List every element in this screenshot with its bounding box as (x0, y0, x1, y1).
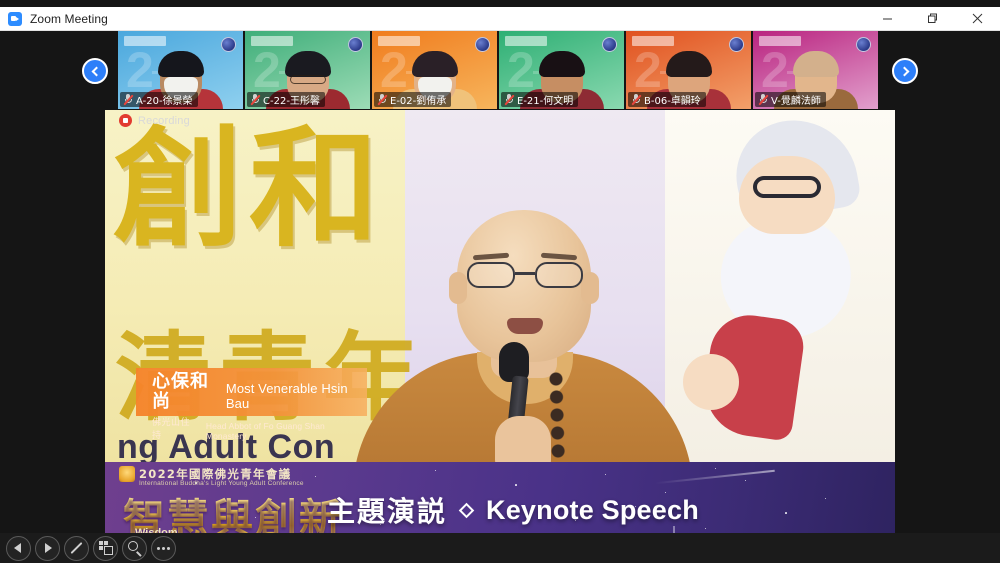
minimize-button[interactable] (865, 7, 910, 31)
more-dots-icon (157, 547, 170, 550)
participant-name: E-21-何文明 (517, 92, 573, 107)
conference-logo-icon (124, 36, 166, 46)
recording-indicator[interactable]: Recording (113, 112, 196, 129)
magnifier-icon (128, 541, 142, 555)
participant-name: E-02-劉侑承 (390, 92, 446, 107)
participant-name: V-覺麟法師 (771, 92, 821, 107)
participant-thumbnail[interactable]: 2E-02-劉侑承 (372, 31, 497, 109)
speaker-mouth (507, 318, 543, 334)
close-button[interactable] (955, 7, 1000, 31)
star (825, 498, 826, 499)
participant-thumbnail[interactable]: 2V-覺麟法師 (753, 31, 878, 109)
record-icon (119, 114, 132, 127)
participant-namebar: B-06-卓韻玲 (628, 92, 706, 107)
annotate-button[interactable] (64, 536, 89, 561)
window-titlebar: Zoom Meeting (0, 7, 1000, 31)
triangle-right-icon (45, 543, 52, 553)
session-title-en: Keynote Speech (486, 495, 699, 526)
more-button[interactable] (151, 536, 176, 561)
star (315, 476, 316, 477)
conference-logo-icon (251, 36, 293, 46)
participant-name: C-22-王彤馨 (263, 92, 320, 107)
layout-grid-icon (99, 541, 113, 555)
star (745, 480, 746, 481)
speaker-nameplate: 心保和尚 Most Venerable Hsin Bau 佛光山住持 Head … (136, 368, 367, 416)
emblem-icon (602, 37, 617, 52)
zoom-icon (8, 12, 22, 26)
conference-logo-icon (505, 36, 547, 46)
gallery-prev-button[interactable] (82, 58, 108, 84)
muted-mic-icon (377, 94, 387, 105)
muted-mic-icon (631, 94, 641, 105)
speaker-figure (373, 202, 673, 464)
pen-slash-icon (70, 542, 82, 554)
speaker-ear-left (449, 272, 467, 304)
gallery-next-button[interactable] (892, 58, 918, 84)
chevron-left-icon (91, 66, 101, 76)
muted-mic-icon (758, 94, 768, 105)
previous-button[interactable] (6, 536, 31, 561)
layout-button[interactable] (93, 536, 118, 561)
participant-namebar: C-22-王彤馨 (247, 92, 325, 107)
chevron-right-icon (899, 66, 909, 76)
cartoon-hand (683, 354, 739, 410)
emblem-icon (221, 37, 236, 52)
muted-mic-icon (504, 94, 514, 105)
participant-namebar: A-20-徐景榮 (120, 92, 198, 107)
star (605, 474, 606, 475)
zoom-button[interactable] (122, 536, 147, 561)
nameplate-title-en: Head Abbot of Fo Guang Shan Monastery (206, 421, 359, 441)
cartoon-glasses (753, 176, 821, 198)
speaker-ear-right (581, 272, 599, 304)
star (435, 470, 436, 471)
session-title: 主題演説 Keynote Speech (327, 490, 699, 530)
participant-thumbnail[interactable]: 2C-22-王彤馨 (245, 31, 370, 109)
star (715, 468, 716, 469)
next-button[interactable] (35, 536, 60, 561)
muted-mic-icon (123, 94, 133, 105)
session-title-cn: 主題演説 (327, 490, 447, 530)
participant-name: B-06-卓韻玲 (644, 92, 701, 107)
triangle-left-icon (14, 543, 21, 553)
active-speaker-video[interactable]: 創和 清青年 ng Adult Con (105, 110, 895, 555)
conference-logo-icon (378, 36, 420, 46)
participant-namebar: E-21-何文明 (501, 92, 578, 107)
participant-thumbnail-strip: 2A-20-徐景榮2C-22-王彤馨2E-02-劉侑承2E-21-何文明2B-0… (118, 31, 882, 109)
participant-thumbnail[interactable]: 2A-20-徐景榮 (118, 31, 243, 109)
speaker-glasses (467, 262, 583, 288)
window-title: Zoom Meeting (30, 12, 108, 26)
emblem-icon (856, 37, 871, 52)
nameplate-name-en: Most Venerable Hsin Bau (226, 381, 359, 412)
emblem-icon (348, 37, 363, 52)
nameplate-name-cn: 心保和尚 (152, 372, 220, 412)
bottom-toolbar (0, 533, 1000, 563)
diamond-icon (459, 502, 475, 518)
star (785, 512, 787, 514)
emblem-icon (475, 37, 490, 52)
recording-label: Recording (138, 115, 190, 127)
participant-name: A-20-徐景榮 (136, 92, 193, 107)
zoom-meeting-window: Zoom Meeting 2A-20-徐景榮2C-22-王彤馨2E-02-劉侑承… (0, 0, 1000, 563)
emblem-icon (729, 37, 744, 52)
conference-logo-icon (632, 36, 674, 46)
restore-button[interactable] (910, 7, 955, 31)
backdrop-giant-text: 創和 (113, 124, 385, 254)
nameplate-title-cn: 佛光山住持 (152, 415, 197, 441)
conference-logo-icon (759, 36, 801, 46)
star (705, 528, 706, 529)
participant-namebar: E-02-劉侑承 (374, 92, 451, 107)
muted-mic-icon (250, 94, 260, 105)
conference-emblem-icon (119, 466, 135, 482)
participant-thumbnail[interactable]: 2B-06-卓韻玲 (626, 31, 751, 109)
participant-namebar: V-覺麟法師 (755, 92, 826, 107)
participant-thumbnail[interactable]: 2E-21-何文明 (499, 31, 624, 109)
star (515, 484, 517, 486)
